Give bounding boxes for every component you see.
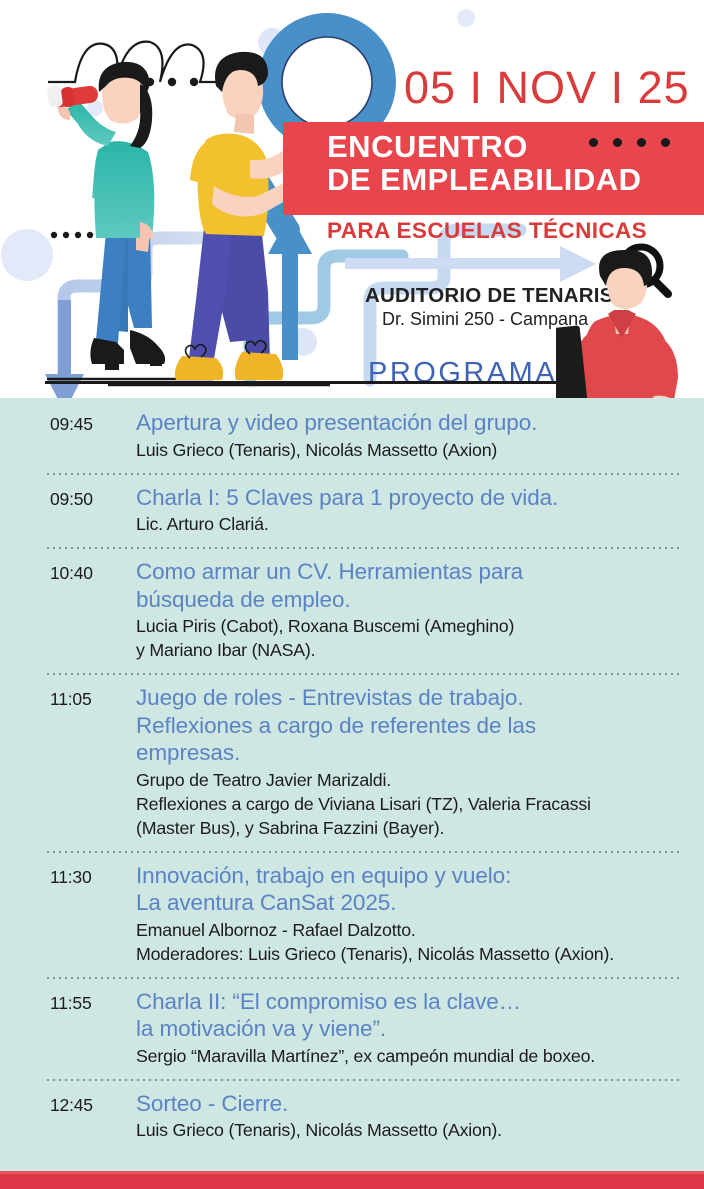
row-speakers: Lucia Piris (Cabot), Roxana Buscemi (Ame… [136,614,694,662]
doodle-dots-left [51,232,93,238]
row-speakers: Lic. Arturo Clariá. [136,512,694,536]
event-poster: 05 I NOV I 25 ENCUENTRO DE EMPLEABILIDAD… [0,0,704,1189]
program-row[interactable]: 11:05 Juego de roles - Entrevistas de tr… [0,673,704,851]
row-title: Charla II: “El compromiso es la clave… l… [136,988,694,1043]
program-row[interactable]: 09:45 Apertura y video presentación del … [0,398,704,473]
program-row[interactable]: 12:45 Sorteo - Cierre. Luis Grieco (Tena… [0,1079,704,1154]
decor-circle [457,9,475,27]
decor-circle [1,229,53,281]
row-title: Juego de roles - Entrevistas de trabajo.… [136,684,694,767]
program-row[interactable]: 11:55 Charla II: “El compromiso es la cl… [0,977,704,1079]
program-heading: PROGRAMA [368,357,557,390]
program-row[interactable]: 11:30 Innovación, trabajo en equipo y vu… [0,851,704,977]
row-time: 09:45 [50,409,136,435]
row-title: Como armar un CV. Herramientas para búsq… [136,558,694,613]
bottom-accent-bar [0,1171,704,1189]
row-title: Charla I: 5 Claves para 1 proyecto de vi… [136,484,694,512]
page-title: ENCUENTRO DE EMPLEABILIDAD [327,130,642,196]
row-speakers: Sergio “Maravilla Martínez”, ex campeón … [136,1044,694,1068]
program-rows: 09:45 Apertura y video presentación del … [0,398,704,1153]
row-time: 11:55 [50,988,136,1014]
arrow-down-icon [45,300,84,400]
page-subtitle: PARA ESCUELAS TÉCNICAS [327,218,647,244]
program-row[interactable]: 10:40 Como armar un CV. Herramientas par… [0,547,704,673]
row-title: Sorteo - Cierre. [136,1090,694,1118]
row-speakers: Emanuel Albornoz - Rafael Dalzotto. Mode… [136,918,694,966]
row-speakers: Grupo de Teatro Javier Marizaldi. Reflex… [136,768,694,840]
row-time: 12:45 [50,1090,136,1116]
row-title: Apertura y video presentación del grupo. [136,409,694,437]
row-time: 11:30 [50,862,136,888]
row-title: Innovación, trabajo en equipo y vuelo: L… [136,862,694,917]
event-date: 05 I NOV I 25 [404,62,690,114]
row-time: 09:50 [50,484,136,510]
row-time: 11:05 [50,684,136,710]
program-row[interactable]: 09:50 Charla I: 5 Claves para 1 proyecto… [0,473,704,548]
row-speakers: Luis Grieco (Tenaris), Nicolás Massetto … [136,1118,694,1142]
program-section: 09:45 Apertura y video presentación del … [0,398,704,1171]
row-speakers: Luis Grieco (Tenaris), Nicolás Massetto … [136,438,694,462]
row-time: 10:40 [50,558,136,584]
bottom-accent-highlight [0,1171,704,1174]
